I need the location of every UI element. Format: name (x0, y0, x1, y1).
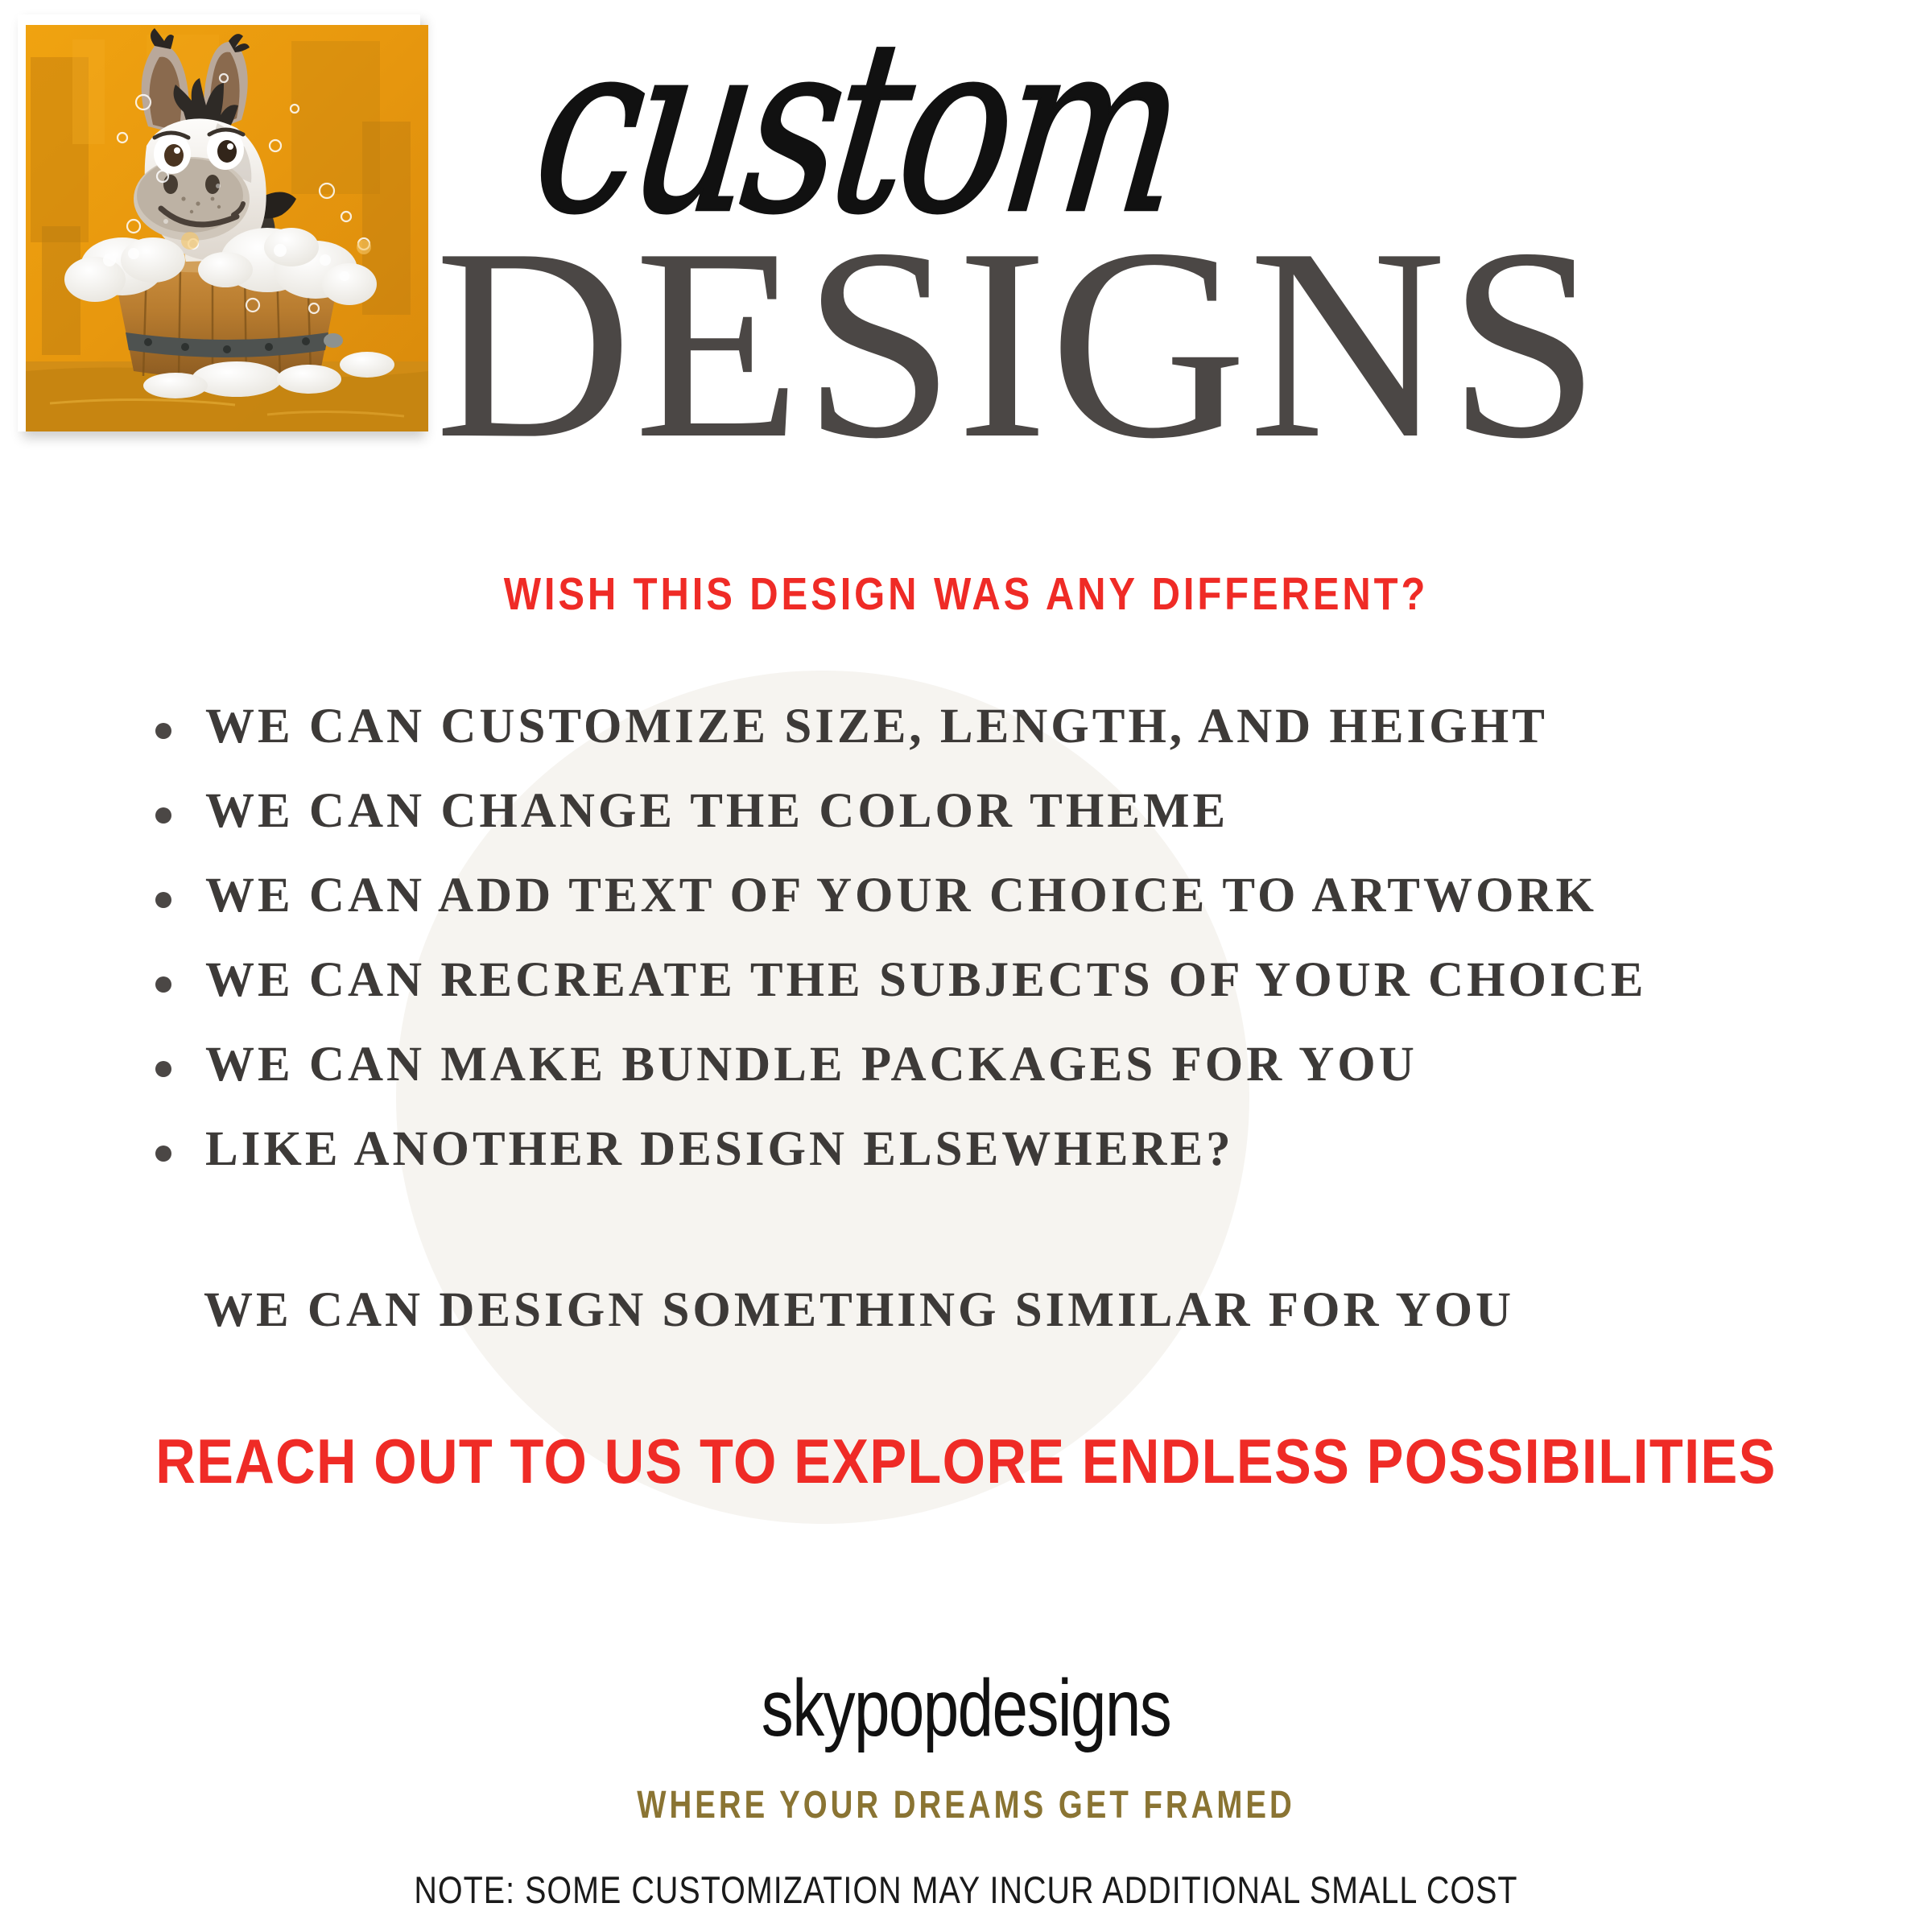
list-item: WE CAN CUSTOMIZE SIZE, LENGTH, AND HEIGH… (149, 702, 1856, 751)
customization-options-list: WE CAN CUSTOMIZE SIZE, LENGTH, AND HEIGH… (149, 702, 1856, 1209)
list-item-label: WE CAN CUSTOMIZE SIZE, LENGTH, AND HEIGH… (205, 700, 1548, 753)
brand-tagline: WHERE YOUR DREAMS GET FRAMED (193, 1783, 1739, 1827)
bullet-dot-icon (155, 976, 171, 993)
page-title-script: custom (526, 15, 1188, 241)
brand-logo-wordmark: skypopdesigns (193, 1662, 1739, 1755)
list-item-label: WE CAN RECREATE THE SUBJECTS OF YOUR CHO… (205, 953, 1646, 1007)
footer-note: NOTE: SOME CUSTOMIZATION MAY INCUR ADDIT… (155, 1868, 1777, 1912)
bullet-dot-icon (155, 892, 171, 908)
artwork-thumbnail[interactable] (18, 14, 435, 448)
list-item-continuation-label: WE CAN DESIGN SOMETHING SIMILAR FOR YOU (204, 1286, 1514, 1335)
list-item-label: WE CAN CHANGE THE COLOR THEME (205, 784, 1228, 838)
call-to-action-text: REACH OUT TO US TO EXPLORE ENDLESS POSSI… (116, 1425, 1816, 1498)
list-item: WE CAN MAKE BUNDLE PACKAGES FOR YOU (149, 1040, 1856, 1089)
list-item: WE CAN ADD TEXT OF YOUR CHOICE TO ARTWOR… (149, 871, 1856, 920)
donkey-bath-artwork-image (26, 25, 428, 431)
list-item-label: LIKE ANOTHER DESIGN ELSEWHERE? (205, 1122, 1234, 1176)
bullet-dot-icon (155, 1146, 171, 1162)
page-title-block: custom DESIGNS (451, 32, 1835, 456)
bullet-dot-icon (155, 723, 171, 739)
list-item-label: WE CAN ADD TEXT OF YOUR CHOICE TO ARTWOR… (205, 869, 1597, 923)
list-item: LIKE ANOTHER DESIGN ELSEWHERE? (149, 1125, 1856, 1174)
poster-canvas: custom DESIGNS WISH THIS DESIGN WAS ANY … (0, 0, 1932, 1932)
list-item-label: WE CAN MAKE BUNDLE PACKAGES FOR YOU (205, 1038, 1418, 1092)
list-item: WE CAN CHANGE THE COLOR THEME (149, 786, 1856, 836)
donkey-bath-illustration (26, 25, 428, 431)
bullet-dot-icon (155, 1061, 171, 1077)
subheadline: WISH THIS DESIGN WAS ANY DIFFERENT? (135, 568, 1797, 621)
list-item: WE CAN RECREATE THE SUBJECTS OF YOUR CHO… (149, 956, 1856, 1005)
bullet-dot-icon (155, 807, 171, 824)
